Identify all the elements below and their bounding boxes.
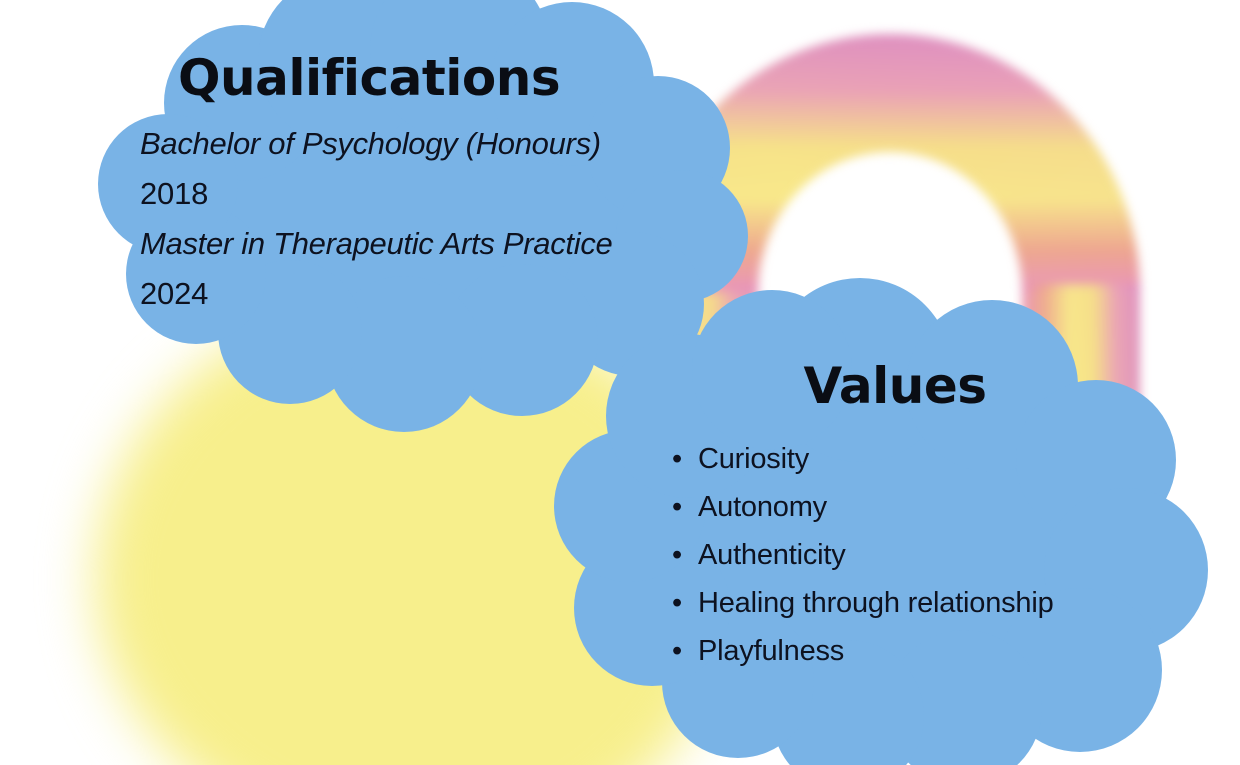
- qualification-item: Master in Therapeutic Arts Practice 2024: [140, 219, 700, 319]
- list-item: •Healing through relationship: [668, 579, 1140, 627]
- qualification-degree: Bachelor of Psychology (Honours): [140, 119, 700, 169]
- bullet-icon: •: [672, 627, 682, 675]
- bullet-icon: •: [672, 579, 682, 627]
- bullet-icon: •: [672, 435, 682, 483]
- list-item-label: Curiosity: [698, 443, 809, 475]
- bullet-icon: •: [672, 531, 682, 579]
- qualifications-list: Bachelor of Psychology (Honours) 2018 Ma…: [140, 119, 700, 319]
- list-item: •Autonomy: [668, 483, 1140, 531]
- values-list: •Curiosity •Autonomy •Authenticity •Heal…: [668, 435, 1140, 675]
- list-item: •Curiosity: [668, 435, 1140, 483]
- qualification-item: Bachelor of Psychology (Honours) 2018: [140, 119, 700, 219]
- list-item: •Playfulness: [668, 627, 1140, 675]
- list-item-label: Authenticity: [698, 539, 846, 571]
- qualifications-heading: Qualifications: [178, 52, 700, 105]
- qualification-degree: Master in Therapeutic Arts Practice: [140, 219, 700, 269]
- list-item: •Authenticity: [668, 531, 1140, 579]
- bullet-icon: •: [672, 483, 682, 531]
- qualification-year: 2024: [140, 269, 700, 319]
- list-item-label: Playfulness: [698, 635, 844, 667]
- list-item-label: Healing through relationship: [698, 587, 1054, 619]
- slide-canvas: Qualifications Bachelor of Psychology (H…: [0, 0, 1240, 765]
- list-item-label: Autonomy: [698, 491, 827, 523]
- values-heading: Values: [650, 360, 1140, 413]
- qualifications-block: Qualifications Bachelor of Psychology (H…: [140, 52, 700, 319]
- qualification-year: 2018: [140, 169, 700, 219]
- values-block: Values •Curiosity •Autonomy •Authenticit…: [640, 360, 1140, 675]
